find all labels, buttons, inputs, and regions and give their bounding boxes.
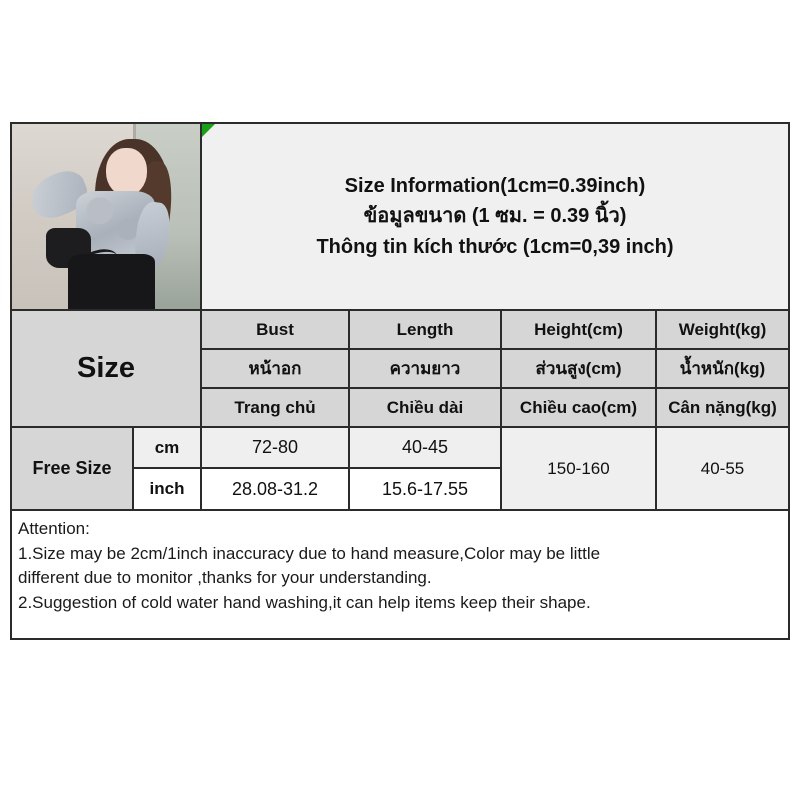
- header-height-en: Height(cm): [502, 311, 657, 350]
- product-photo-image: [12, 124, 200, 309]
- attention-block: Attention: 1.Size may be 2cm/1inch inacc…: [12, 509, 788, 641]
- header-length-th: ความยาว: [350, 350, 502, 389]
- header-bust-th: หน้าอก: [202, 350, 350, 389]
- length-value-cm: 40-45: [350, 428, 502, 469]
- attention-note-1-line-2: different due to monitor ,thanks for you…: [18, 566, 788, 591]
- bust-value-inch: 28.08-31.2: [202, 469, 350, 509]
- free-size-label: Free Size: [12, 428, 134, 509]
- header-weight-th: น้ำหนัก(kg): [657, 350, 788, 389]
- measurement-grid: Size Bust Length Height(cm) Weight(kg) ห…: [12, 311, 788, 509]
- header-length-en: Length: [350, 311, 502, 350]
- unit-inch-label: inch: [134, 469, 202, 509]
- green-corner-triangle-icon: [202, 124, 215, 137]
- header-height-th: ส่วนสูง(cm): [502, 350, 657, 389]
- size-chart-page: Size Information(1cm=0.39inch) ข้อมูลขนา…: [0, 0, 800, 800]
- title-vietnamese: Thông tin kích thước (1cm=0,39 inch): [316, 232, 673, 262]
- title-english: Size Information(1cm=0.39inch): [345, 171, 646, 201]
- bust-value-cm: 72-80: [202, 428, 350, 469]
- attention-note-1-line-1: 1.Size may be 2cm/1inch inaccuracy due t…: [18, 542, 788, 567]
- header-height-vi: Chiều cao(cm): [502, 389, 657, 428]
- attention-heading: Attention:: [18, 517, 788, 542]
- size-chart-table: Size Information(1cm=0.39inch) ข้อมูลขนา…: [10, 122, 790, 640]
- attention-note-2: 2.Suggestion of cold water hand washing,…: [18, 591, 788, 616]
- weight-value: 40-55: [657, 428, 788, 509]
- chart-header-band: Size Information(1cm=0.39inch) ข้อมูลขนา…: [12, 124, 788, 311]
- title-panel: Size Information(1cm=0.39inch) ข้อมูลขนา…: [202, 124, 788, 309]
- unit-cm-label: cm: [134, 428, 202, 469]
- header-weight-en: Weight(kg): [657, 311, 788, 350]
- size-label-cell: Size: [12, 311, 202, 428]
- header-bust-en: Bust: [202, 311, 350, 350]
- photo-black-skirt: [68, 254, 154, 310]
- header-length-vi: Chiều dài: [350, 389, 502, 428]
- length-value-inch: 15.6-17.55: [350, 469, 502, 509]
- header-bust-vi: Trang chủ: [202, 389, 350, 428]
- header-weight-vi: Cân nặng(kg): [657, 389, 788, 428]
- title-thai: ข้อมูลขนาด (1 ซม. = 0.39 นิ้ว): [364, 201, 627, 231]
- product-photo-cell: [12, 124, 202, 309]
- height-value: 150-160: [502, 428, 657, 509]
